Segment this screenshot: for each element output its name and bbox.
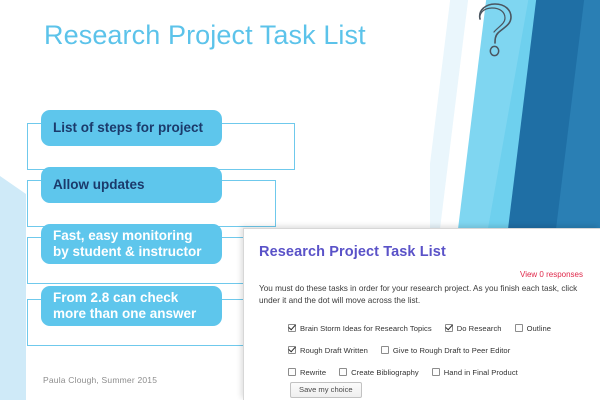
deco-band-deep-blue: [507, 0, 596, 229]
task-list-form-panel: Research Project Task List View 0 respon…: [243, 228, 600, 400]
callout-4-label: From 2.8 can check more than one answer: [53, 290, 196, 322]
checkbox-row: Rough Draft Written Give to Rough Draft …: [288, 339, 588, 361]
checkbox-label: Do Research: [457, 324, 502, 333]
checkbox-item[interactable]: Give to Rough Draft to Peer Editor: [381, 346, 510, 355]
checkbox-empty-icon[interactable]: [339, 368, 347, 376]
checkbox-checked-icon[interactable]: [288, 324, 296, 332]
slide-canvas: Research Project Task List List of steps…: [0, 0, 600, 400]
checkbox-item[interactable]: Brain Storm Ideas for Research Topics: [288, 324, 432, 333]
checkbox-group: Brain Storm Ideas for Research Topics Do…: [288, 317, 588, 383]
checkbox-label: Rough Draft Written: [300, 346, 368, 355]
checkbox-empty-icon[interactable]: [381, 346, 389, 354]
checkbox-item[interactable]: Do Research: [445, 324, 502, 333]
deco-band-cyan-light: [440, 0, 530, 229]
checkbox-row: Rewrite Create Bibliography Hand in Fina…: [288, 361, 588, 383]
checkbox-empty-icon[interactable]: [288, 368, 296, 376]
checkbox-checked-icon[interactable]: [288, 346, 296, 354]
save-my-choice-button[interactable]: Save my choice: [290, 382, 362, 398]
form-title: Research Project Task List: [259, 244, 446, 260]
checkbox-label: Create Bibliography: [351, 368, 419, 377]
callout-3-label: Fast, easy monitoring by student & instr…: [53, 228, 202, 260]
deco-band-pale: [430, 0, 497, 229]
callout-2-label: Allow updates: [53, 177, 145, 193]
checkbox-label: Give to Rough Draft to Peer Editor: [393, 346, 510, 355]
callout-4-pill: From 2.8 can check more than one answer: [41, 286, 222, 326]
callout-3-pill: Fast, easy monitoring by student & instr…: [41, 224, 222, 264]
checkbox-item[interactable]: Hand in Final Product: [432, 368, 518, 377]
credit-line: Paula Clough, Summer 2015: [43, 375, 157, 385]
checkbox-label: Rewrite: [300, 368, 326, 377]
callout-1-label: List of steps for project: [53, 120, 203, 136]
checkbox-item[interactable]: Rewrite: [288, 368, 326, 377]
checkbox-item[interactable]: Outline: [515, 324, 551, 333]
deco-band-white: [439, 0, 488, 229]
callout-2-pill: Allow updates: [41, 167, 222, 203]
checkbox-label: Outline: [527, 324, 551, 333]
deco-band-cyan: [447, 0, 540, 229]
checkbox-checked-icon[interactable]: [445, 324, 453, 332]
checkbox-empty-icon[interactable]: [515, 324, 523, 332]
checkbox-item[interactable]: Create Bibliography: [339, 368, 419, 377]
view-responses-link[interactable]: View 0 responses: [520, 270, 583, 279]
question-mark-icon: [474, 2, 516, 60]
decorative-corner-bands: [430, 0, 600, 229]
page-title: Research Project Task List: [44, 20, 366, 51]
checkbox-label: Hand in Final Product: [444, 368, 518, 377]
checkbox-label: Brain Storm Ideas for Research Topics: [300, 324, 432, 333]
deco-band-deep-blue-2: [555, 0, 600, 229]
checkbox-empty-icon[interactable]: [432, 368, 440, 376]
checkbox-item[interactable]: Rough Draft Written: [288, 346, 368, 355]
checkbox-row: Brain Storm Ideas for Research Topics Do…: [288, 317, 588, 339]
callout-1-pill: List of steps for project: [41, 110, 222, 146]
form-description: You must do these tasks in order for you…: [259, 283, 589, 308]
